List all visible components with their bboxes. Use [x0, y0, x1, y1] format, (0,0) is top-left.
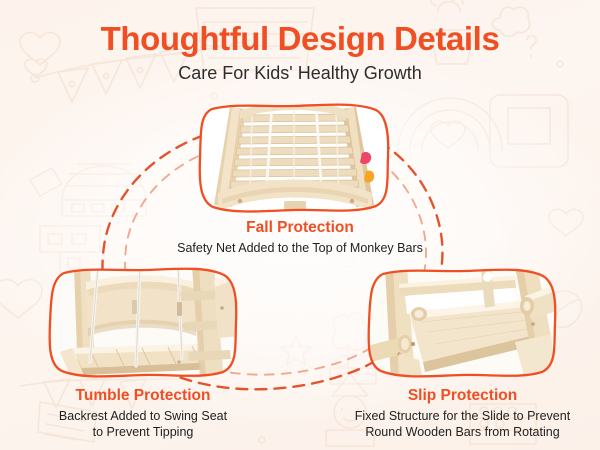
feature-title-fall-protection: Fall Protection: [140, 219, 460, 238]
feature-desc-fall-protection: Safety Net Added to the Top of Monkey Ba…: [140, 240, 460, 257]
infographic-canvas: Fall Protection Safety Net Added to the …: [0, 0, 600, 450]
caption-fall-protection: Fall Protection Safety Net Added to the …: [140, 219, 460, 256]
callout-slip-protection[interactable]: [365, 266, 559, 380]
page-title: Thoughtful Design Details: [0, 22, 600, 57]
caption-tumble-protection: Tumble Protection Backrest Added to Swin…: [18, 387, 268, 441]
callout-fall-protection[interactable]: [196, 101, 392, 215]
photo-fall-protection: [196, 101, 392, 215]
feature-desc-tumble-protection-line2: to Prevent Tipping: [18, 424, 268, 441]
page-subtitle: Care For Kids' Healthy Growth: [0, 64, 600, 84]
feature-desc-slip-protection-line1: Fixed Structure for the Slide to Prevent: [330, 408, 595, 425]
header: Thoughtful Design Details Care For Kids'…: [0, 22, 600, 83]
feature-title-slip-protection: Slip Protection: [330, 387, 595, 406]
feature-title-tumble-protection: Tumble Protection: [18, 387, 268, 406]
callout-frame-tumble-protection: [46, 266, 240, 380]
caption-slip-protection: Slip Protection Fixed Structure for the …: [330, 387, 595, 441]
photo-tumble-protection: [46, 266, 240, 380]
callout-tumble-protection[interactable]: [46, 266, 240, 380]
feature-desc-tumble-protection-line1: Backrest Added to Swing Seat: [18, 408, 268, 425]
callout-frame-slip-protection: [365, 266, 559, 380]
feature-desc-slip-protection-line2: Round Wooden Bars from Rotating: [330, 424, 595, 441]
photo-slip-protection: [365, 266, 559, 380]
callout-frame-fall-protection: [196, 101, 392, 215]
